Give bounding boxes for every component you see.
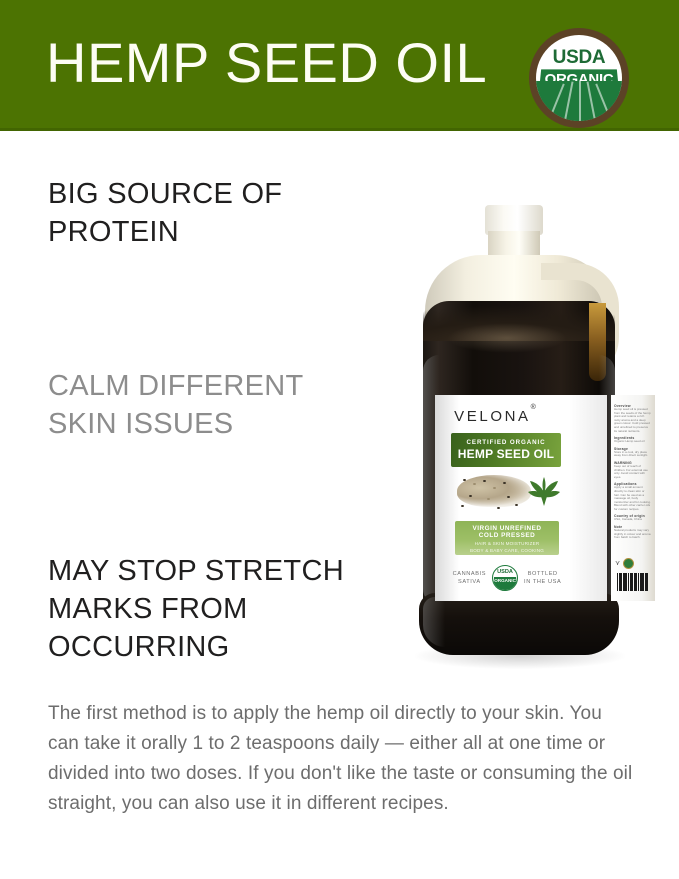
cannabis-leaf-icon	[527, 477, 561, 507]
heading-line: PROTEIN	[48, 213, 282, 251]
product-label-front: VELONA® CERTIFIED ORGANIC HEMP SEED OIL	[435, 395, 607, 601]
usda-seal-top: USDA	[536, 35, 622, 71]
hemp-seeds-illustration	[449, 471, 565, 515]
label-certified-organic: CERTIFIED ORGANIC	[467, 439, 546, 446]
label-bottled-in-usa: BOTTLED IN THE USA	[524, 570, 561, 586]
heading-line: BIG SOURCE OF	[48, 175, 282, 213]
side-label-logo: ⋎	[615, 555, 649, 571]
usda-seal-top-text: USDA	[553, 47, 606, 69]
product-label-side: Overview Hemp seed oil is pressed from t…	[611, 395, 655, 601]
label-cannabis-sativa: CANNABIS SATIVA	[453, 570, 486, 586]
body-paragraph: The first method is to apply the hemp oi…	[48, 699, 638, 819]
usda-seal-inner: USDA ORGANIC	[536, 35, 622, 121]
label-product-name: HEMP SEED OIL	[458, 447, 554, 461]
side-section-body: Apply a small amount directly to clean s…	[614, 486, 651, 511]
heading-big-source-of-protein: BIG SOURCE OF PROTEIN	[48, 175, 282, 251]
label-brand-mark: ®	[531, 404, 536, 411]
heading-line: MARKS FROM	[48, 590, 344, 628]
label-usda-organic-seal: USDA ORGANIC	[492, 565, 518, 591]
label-cannabis-line-1: CANNABIS	[453, 570, 486, 578]
label-cannabis-line-2: SATIVA	[453, 578, 486, 586]
bottle-base	[419, 593, 619, 655]
label-product-band: CERTIFIED ORGANIC HEMP SEED OIL	[451, 433, 561, 467]
label-process-line-1: VIRGIN UNREFINED	[472, 525, 541, 532]
label-brand-text: VELONA	[454, 408, 530, 425]
heading-line: MAY STOP STRETCH	[48, 552, 344, 590]
usda-organic-seal: USDA ORGANIC	[529, 28, 629, 128]
label-uses-line-2: BODY & BABY CARE, COOKING	[470, 548, 544, 553]
side-label-brand-mark: ⋎	[615, 559, 620, 567]
side-section-body: Organic Hemp seed oil	[614, 440, 651, 444]
oil-sheen	[447, 323, 567, 353]
heading-calm-different-skin-issues: CALM DIFFERENT SKIN ISSUES	[48, 367, 304, 443]
page-title: HEMP SEED OIL	[46, 33, 487, 93]
label-bottled-line-1: BOTTLED	[524, 570, 561, 578]
side-section-body: Keep out of reach of children. For exter…	[614, 465, 651, 479]
product-bottle-image: VELONA® CERTIFIED ORGANIC HEMP SEED OIL	[393, 205, 643, 665]
seed-pile	[457, 475, 531, 507]
label-seal-bottom-text: ORGANIC	[493, 577, 517, 591]
label-bottled-line-2: IN THE USA	[524, 578, 561, 586]
barcode	[617, 573, 649, 591]
side-section-body: Natural products may vary slightly in co…	[614, 529, 651, 540]
side-section-body: Hemp seed oil is pressed from the seeds …	[614, 408, 651, 433]
heading-may-stop-stretch-marks: MAY STOP STRETCH MARKS FROM OCCURRING	[48, 552, 344, 666]
label-process-line-2: COLD PRESSED	[479, 532, 535, 539]
label-process-band: VIRGIN UNREFINED COLD PRESSED HAIR & SKI…	[455, 521, 559, 555]
heading-line: OCCURRING	[48, 628, 344, 666]
usda-seal-field-lines	[536, 81, 622, 121]
side-label-seal-icon	[623, 558, 634, 569]
page-header: HEMP SEED OIL USDA ORGANIC	[0, 0, 679, 131]
label-seal-top-text: USDA	[493, 569, 517, 575]
side-section-body: USA, Canada, China	[614, 518, 651, 522]
side-section-body: Store in a cool, dry place away from dir…	[614, 451, 651, 458]
label-uses-line-1: HAIR & SKIN MOISTURIZER	[475, 541, 540, 546]
label-brand: VELONA®	[435, 408, 555, 425]
label-badge-row: CANNABIS SATIVA USDA ORGANIC BOTTLED IN …	[447, 563, 567, 593]
heading-line: SKIN ISSUES	[48, 405, 304, 443]
heading-line: CALM DIFFERENT	[48, 367, 304, 405]
